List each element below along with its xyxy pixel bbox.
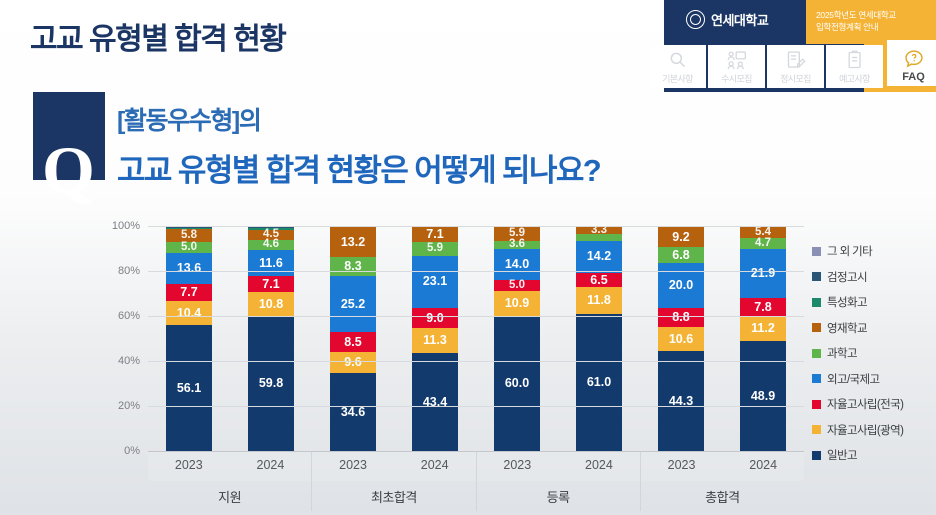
bar-segment[interactable]: 44.3 [658,351,704,451]
gridline [148,406,804,407]
segment-value-label: 11.3 [423,334,447,347]
bar-segment[interactable]: 8.3 [330,257,376,276]
x-axis-group-label: 등록 [477,481,641,511]
question-bubble-icon [903,49,925,69]
gridline [148,226,804,227]
x-axis-group-label: 총합격 [641,481,804,511]
segment-value-label: 25.2 [341,298,365,311]
bar-segment[interactable]: 20.0 [658,263,704,308]
gridline [148,316,804,317]
x-axis-group-label: 최초합격 [312,481,476,511]
y-tick-label: 40% [118,355,140,367]
bar-segment[interactable]: 10.9 [494,291,540,316]
segment-value-label: 60.0 [505,377,529,390]
x-tick-label: 2024 [257,452,285,481]
bar-segment[interactable]: 13.6 [166,253,212,284]
bar-group: 5.85.013.67.710.456.14.54.611.67.110.859… [148,226,312,451]
segment-value-label: 5.0 [509,280,525,292]
x-tick-label: 2024 [421,452,449,481]
tab-label: 정시모집 [780,72,811,85]
bar-groups: 5.85.013.67.710.456.14.54.611.67.110.859… [148,226,804,451]
segment-value-label: 23.1 [423,275,447,288]
stacked-bar[interactable]: 5.93.614.05.010.960.0 [494,226,540,451]
segment-value-label: 14.2 [587,250,611,263]
header-tabs: 기본사항 수시모집 정시모집 [649,45,936,88]
stacked-bar[interactable]: 4.54.611.67.110.859.8 [248,226,294,451]
y-tick-label: 60% [118,310,140,322]
segment-value-label: 34.6 [341,406,365,419]
tab-notice[interactable]: 예고사항 [826,45,883,88]
legend-item[interactable]: 과학고 [812,345,932,361]
brand-logo: 연세대학교 [686,10,768,29]
legend-label: 특성화고 [827,294,867,310]
segment-value-label: 11.6 [259,257,283,270]
segment-value-label: 7.1 [426,228,443,241]
segment-value-label: 48.9 [751,390,775,403]
tab-label: 예고사항 [839,72,870,85]
x-tick-label: 2024 [749,452,777,481]
stacked-bar[interactable]: 5.85.013.67.710.456.1 [166,226,212,451]
bar-segment[interactable]: 10.8 [248,292,294,316]
legend-label: 검정고시 [827,269,867,285]
legend-swatch [812,323,821,332]
segment-value-label: 6.5 [590,274,607,287]
bar-segment[interactable]: 43.4 [412,353,458,451]
segment-value-label: 7.8 [754,301,771,314]
segment-value-label: 21.9 [751,267,775,280]
x-axis-group: 20232024 [477,452,641,481]
bar-segment[interactable]: 60.0 [494,316,540,451]
legend-item[interactable]: 자율고사립(광역) [812,422,932,438]
bar-segment[interactable]: 21.9 [740,249,786,298]
page-title: 고교 유형별 합격 현황 [30,14,285,58]
legend-label: 일반고 [827,447,857,463]
bar-segment[interactable]: 11.2 [740,316,786,341]
x-tick-label: 2023 [339,452,367,481]
x-tick-label: 2023 [668,452,696,481]
segment-value-label: 8.8 [672,311,689,324]
x-axis-group: 20232024 [641,452,804,481]
legend-label: 그 외 기타 [827,243,872,259]
segment-value-label: 10.8 [259,298,283,311]
bar-segment[interactable]: 7.7 [166,284,212,301]
bar-segment[interactable]: 6.8 [658,247,704,262]
legend-item[interactable]: 검정고시 [812,269,932,285]
bar-segment[interactable]: 25.2 [330,276,376,333]
gridline [148,361,804,362]
bar-segment[interactable]: 56.1 [166,325,212,451]
stacked-bar[interactable]: 5.44.721.97.811.248.9 [740,226,786,451]
site-header: 연세대학교 2025학년도 연세대학교 입학전형계획 안내 기본사항 [664,0,936,92]
segment-value-label: 13.2 [341,236,365,249]
legend-swatch [812,400,821,409]
segment-value-label: 56.1 [177,382,201,395]
legend-swatch [812,425,821,434]
y-tick-label: 80% [118,265,140,277]
segment-value-label: 59.8 [259,377,283,390]
gridline [148,271,804,272]
bar-segment[interactable]: 9.0 [412,308,458,328]
question-line-1: [활동우수형]의 [117,101,260,137]
segment-value-label: 4.7 [755,238,771,250]
bar-segment[interactable]: 5.9 [412,242,458,255]
segment-value-label: 10.4 [177,307,201,320]
admission-banner: 2025학년도 연세대학교 입학전형계획 안내 [816,9,896,33]
x-tick-label: 2024 [585,452,613,481]
bar-segment[interactable]: 10.4 [166,301,212,324]
segment-value-label: 5.9 [427,243,443,255]
x-tick-label: 2023 [175,452,203,481]
legend-item[interactable]: 자율고사립(전국) [812,396,932,412]
segment-value-label: 13.6 [177,262,201,275]
bar-segment[interactable]: 59.8 [248,316,294,451]
legend-swatch [812,298,821,307]
question-mark-letter: Q [42,136,95,204]
segment-value-label: 5.8 [181,230,197,242]
x-axis-group: 20232024 [312,452,476,481]
stacked-bar[interactable]: 7.15.923.19.011.343.4 [412,226,458,451]
legend-swatch [812,349,821,358]
bar-segment[interactable]: 14.0 [494,249,540,281]
segment-value-label: 6.8 [672,249,689,262]
segment-value-label: 10.6 [669,333,693,346]
bar-segment[interactable]: 14.2 [576,241,622,273]
chart-legend: 그 외 기타검정고시특성화고영재학교과학고외고/국제고자율고사립(전국)자율고사… [812,243,932,473]
segment-value-label: 4.6 [263,239,279,251]
tab-jeongsi[interactable]: 정시모집 [767,45,824,88]
bar-segment[interactable]: 8.5 [330,332,376,351]
legend-label: 영재학교 [827,320,867,336]
magnifier-icon [667,50,689,70]
x-axis-years: 20232024202320242023202420232024 [148,452,804,481]
segment-value-label: 9.6 [344,356,361,369]
legend-item[interactable]: 특성화고 [812,294,932,310]
tab-basic-info[interactable]: 기본사항 [649,45,706,88]
legend-item[interactable]: 외고/국제고 [812,371,932,387]
legend-label: 과학고 [827,345,857,361]
brand-name: 연세대학교 [711,10,768,29]
bar-segment[interactable]: 48.9 [740,341,786,451]
x-axis-categories: 지원최초합격등록총합격 [148,481,804,511]
bar-segment[interactable]: 11.8 [576,287,622,314]
banner-line-1: 2025학년도 연세대학교 [816,9,896,21]
bar-segment[interactable]: 7.8 [740,298,786,316]
bar-segment[interactable]: 4.6 [248,240,294,250]
bar-segment[interactable]: 9.2 [658,227,704,248]
segment-value-label: 14.0 [505,258,529,271]
bar-segment[interactable]: 9.6 [330,352,376,374]
stacked-bar-chart: 0%20%40%60%80%100% 5.85.013.67.710.456.1… [104,226,804,481]
bar-segment[interactable]: 11.3 [412,328,458,353]
tab-label: FAQ [902,71,925,83]
legend-label: 자율고사립(광역) [827,422,903,438]
x-axis-group: 20232024 [148,452,312,481]
banner-line-2: 입학전형계획 안내 [816,21,896,33]
legend-swatch [812,272,821,281]
x-axis-group-label: 지원 [148,481,312,511]
segment-value-label: 20.0 [669,279,693,292]
bar-segment[interactable]: 4.7 [740,238,786,249]
question-line-2: 고교 유형별 합격 현황은 어떻게 되나요? [117,145,600,190]
bar-group: 13.28.325.28.59.634.67.15.923.19.011.343… [312,226,476,451]
y-tick-label: 100% [112,220,140,232]
bar-segment[interactable]: 11.6 [248,250,294,276]
legend-item[interactable]: 일반고 [812,447,932,463]
segment-value-label: 61.0 [587,376,611,389]
legend-swatch [812,374,821,383]
bar-segment[interactable]: 7.1 [248,276,294,292]
bar-segment[interactable]: 6.5 [576,273,622,288]
tab-faq[interactable]: FAQ [885,38,936,88]
stacked-bar[interactable]: 9.26.820.08.810.644.3 [658,226,704,451]
segment-value-label: 9.0 [426,312,443,325]
bar-segment[interactable]: 5.0 [166,242,212,253]
people-chat-icon [726,50,748,70]
legend-label: 외고/국제고 [827,371,880,387]
bar-segment[interactable]: 10.6 [658,327,704,351]
notice-board-icon [844,50,866,70]
bar-segment[interactable]: 7.1 [412,226,458,242]
bar-segment[interactable]: 61.0 [576,314,622,451]
legend-swatch [812,451,821,460]
legend-item[interactable]: 영재학교 [812,320,932,336]
segment-value-label: 9.2 [672,231,689,244]
legend-label: 자율고사립(전국) [827,396,903,412]
bar-segment[interactable]: 13.2 [330,227,376,257]
y-tick-label: 20% [118,400,140,412]
bar-segment[interactable]: 3.6 [494,241,540,249]
segment-value-label: 10.9 [505,297,529,310]
segment-value-label: 11.2 [751,322,775,335]
x-tick-label: 2023 [503,452,531,481]
segment-value-label: 8.5 [344,336,361,349]
legend-swatch [812,247,821,256]
plot-area: 5.85.013.67.710.456.14.54.611.67.110.859… [148,226,804,451]
bar-group: 5.93.614.05.010.960.03.314.26.511.861.0 [476,226,640,451]
tab-label: 기본사항 [662,72,693,85]
yonsei-seal-icon [686,10,705,29]
bar-segment[interactable]: 23.1 [412,256,458,308]
legend-item[interactable]: 그 외 기타 [812,243,932,259]
stacked-bar[interactable]: 13.28.325.28.59.634.6 [330,226,376,451]
bar-segment[interactable]: 3.3 [576,227,622,234]
stacked-bar[interactable]: 3.314.26.511.861.0 [576,226,622,451]
bar-segment[interactable]: 8.8 [658,308,704,328]
segment-value-label: 5.0 [181,242,197,254]
bar-segment[interactable]: 34.6 [330,373,376,451]
bar-group: 9.26.820.08.810.644.35.44.721.97.811.248… [640,226,804,451]
bar-segment[interactable]: 5.0 [494,280,540,291]
segment-value-label: 7.1 [262,278,279,291]
tab-label: 수시모집 [721,72,752,85]
y-tick-label: 0% [124,445,140,457]
segment-value-label: 11.8 [587,294,611,307]
y-axis: 0%20%40%60%80%100% [104,226,144,451]
document-pencil-icon [785,50,807,70]
tab-susi[interactable]: 수시모집 [708,45,765,88]
segment-value-label: 7.7 [180,286,197,299]
